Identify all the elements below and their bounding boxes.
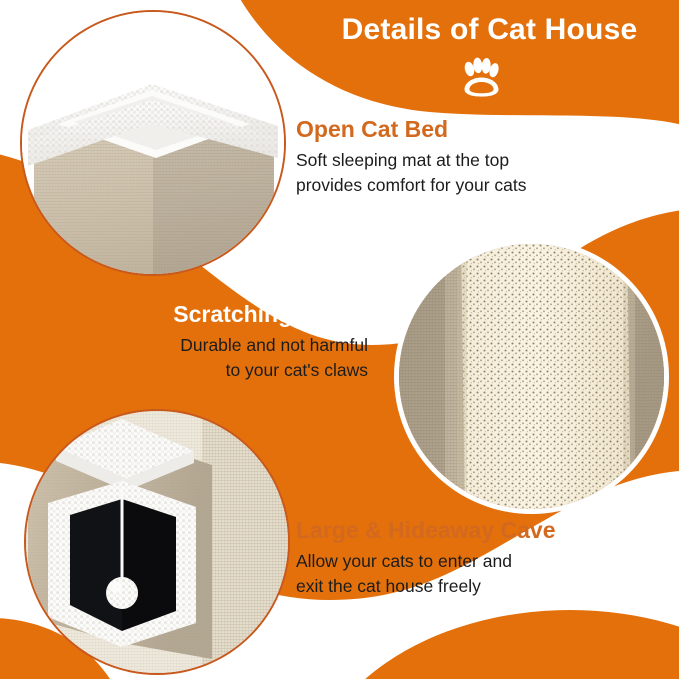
feature-title-scratching-pad: Scratching Pad [148, 300, 368, 328]
feature-body-scratching-pad: Durable and not harmful to your cat's cl… [148, 333, 368, 383]
scratching-pad-photo [399, 244, 664, 509]
feature-title-open-cat-bed: Open Cat Bed [296, 115, 527, 143]
hideaway-cave-photo [26, 411, 288, 673]
feature-large-hideaway-cave: Large & Hideaway Cave Allow your cats to… [296, 516, 556, 599]
feature-body-open-cat-bed: Soft sleeping mat at the top provides co… [296, 148, 527, 198]
bottom-right-orange-shape [310, 610, 679, 679]
paw-print-icon [458, 57, 502, 99]
feature-body-large-hideaway-cave: Allow your cats to enter and exit the ca… [296, 549, 556, 599]
feature-body-line: provides comfort for your cats [296, 173, 527, 198]
feature-body-line: exit the cat house freely [296, 574, 556, 599]
feature-scratching-pad: Scratching Pad Durable and not harmful t… [148, 300, 368, 383]
feature-body-line: Allow your cats to enter and [296, 549, 556, 574]
feature-body-line: Soft sleeping mat at the top [296, 148, 527, 173]
feature-open-cat-bed: Open Cat Bed Soft sleeping mat at the to… [296, 115, 527, 198]
page-title: Details of Cat House [300, 12, 679, 48]
cat-bed-photo [22, 12, 284, 274]
feature-title-large-hideaway-cave: Large & Hideaway Cave [296, 516, 556, 544]
cat-house-infographic: Details of Cat House [0, 0, 679, 679]
feature-body-line: to your cat's claws [148, 358, 368, 383]
feature-body-line: Durable and not harmful [148, 333, 368, 358]
